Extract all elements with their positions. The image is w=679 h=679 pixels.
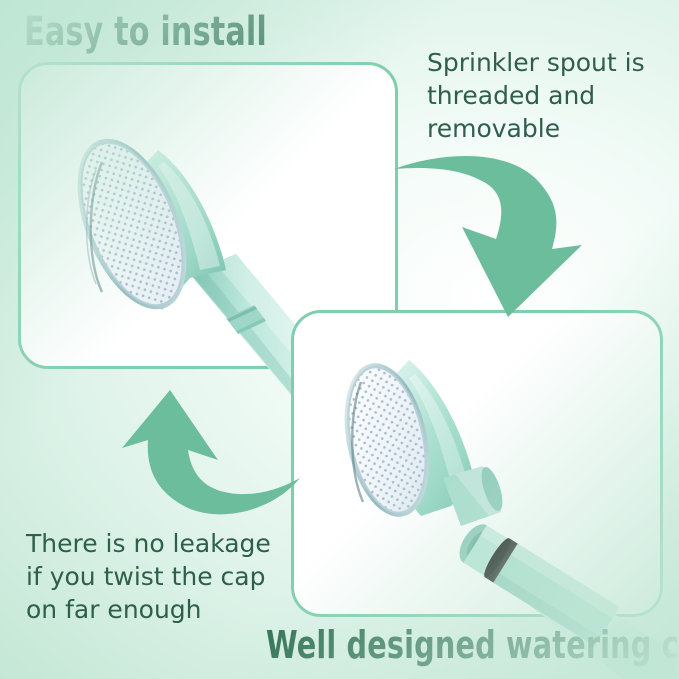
callout-sprinkler-spout-threaded: Sprinkler spout is threaded and removabl… bbox=[427, 46, 675, 145]
infographic-canvas: Easy to install Sprinkler spout is threa… bbox=[0, 0, 679, 679]
panel-well-designed bbox=[291, 310, 663, 617]
page-title-easy-to-install: Easy to install bbox=[24, 9, 267, 55]
page-title-well-designed-watering-can: Well designed watering can bbox=[266, 623, 679, 667]
callout-no-leakage: There is no leakage if you twist the cap… bbox=[26, 527, 294, 626]
